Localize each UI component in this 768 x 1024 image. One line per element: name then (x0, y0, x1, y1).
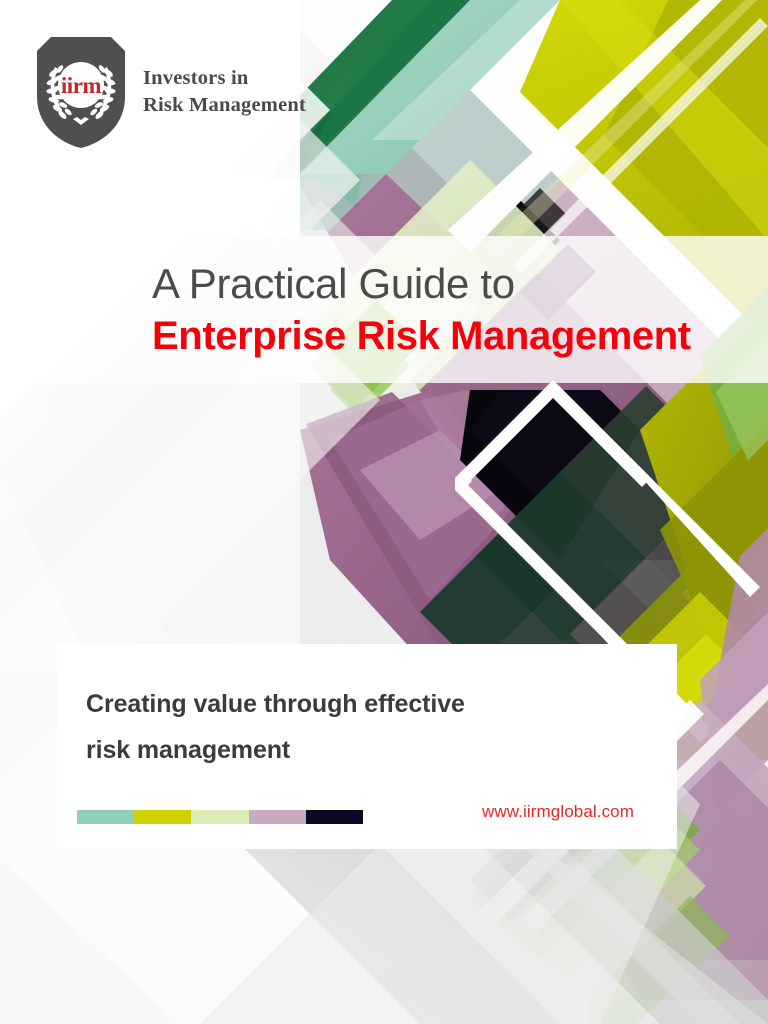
swatch-olive (134, 810, 191, 824)
tagline-card: Creating value through effective risk ma… (57, 644, 677, 849)
page-title-primary: A Practical Guide to (152, 259, 768, 309)
cover-page: iirm Investors in Risk Management A Prac… (0, 0, 768, 1024)
tagline-text: Creating value through effective risk ma… (86, 682, 606, 773)
swatch-mauve (249, 810, 306, 824)
title-band: A Practical Guide to Enterprise Risk Man… (0, 236, 768, 383)
abstract-diagonal-geometric-graphic (0, 0, 768, 1024)
brand-logo: iirm Investors in Risk Management (33, 33, 306, 151)
swatch-midnight (306, 810, 363, 824)
swatch-mint (77, 810, 134, 824)
organisation-name: Investors in Risk Management (143, 65, 306, 120)
logo-wordmark: iirm (61, 73, 101, 98)
shield-laurel-logo: iirm (33, 33, 129, 151)
swatch-pale-green (191, 810, 248, 824)
page-title-secondary: Enterprise Risk Management (152, 313, 768, 360)
website-url[interactable]: www.iirmglobal.com (482, 802, 634, 822)
colour-swatch-bar (77, 810, 363, 824)
